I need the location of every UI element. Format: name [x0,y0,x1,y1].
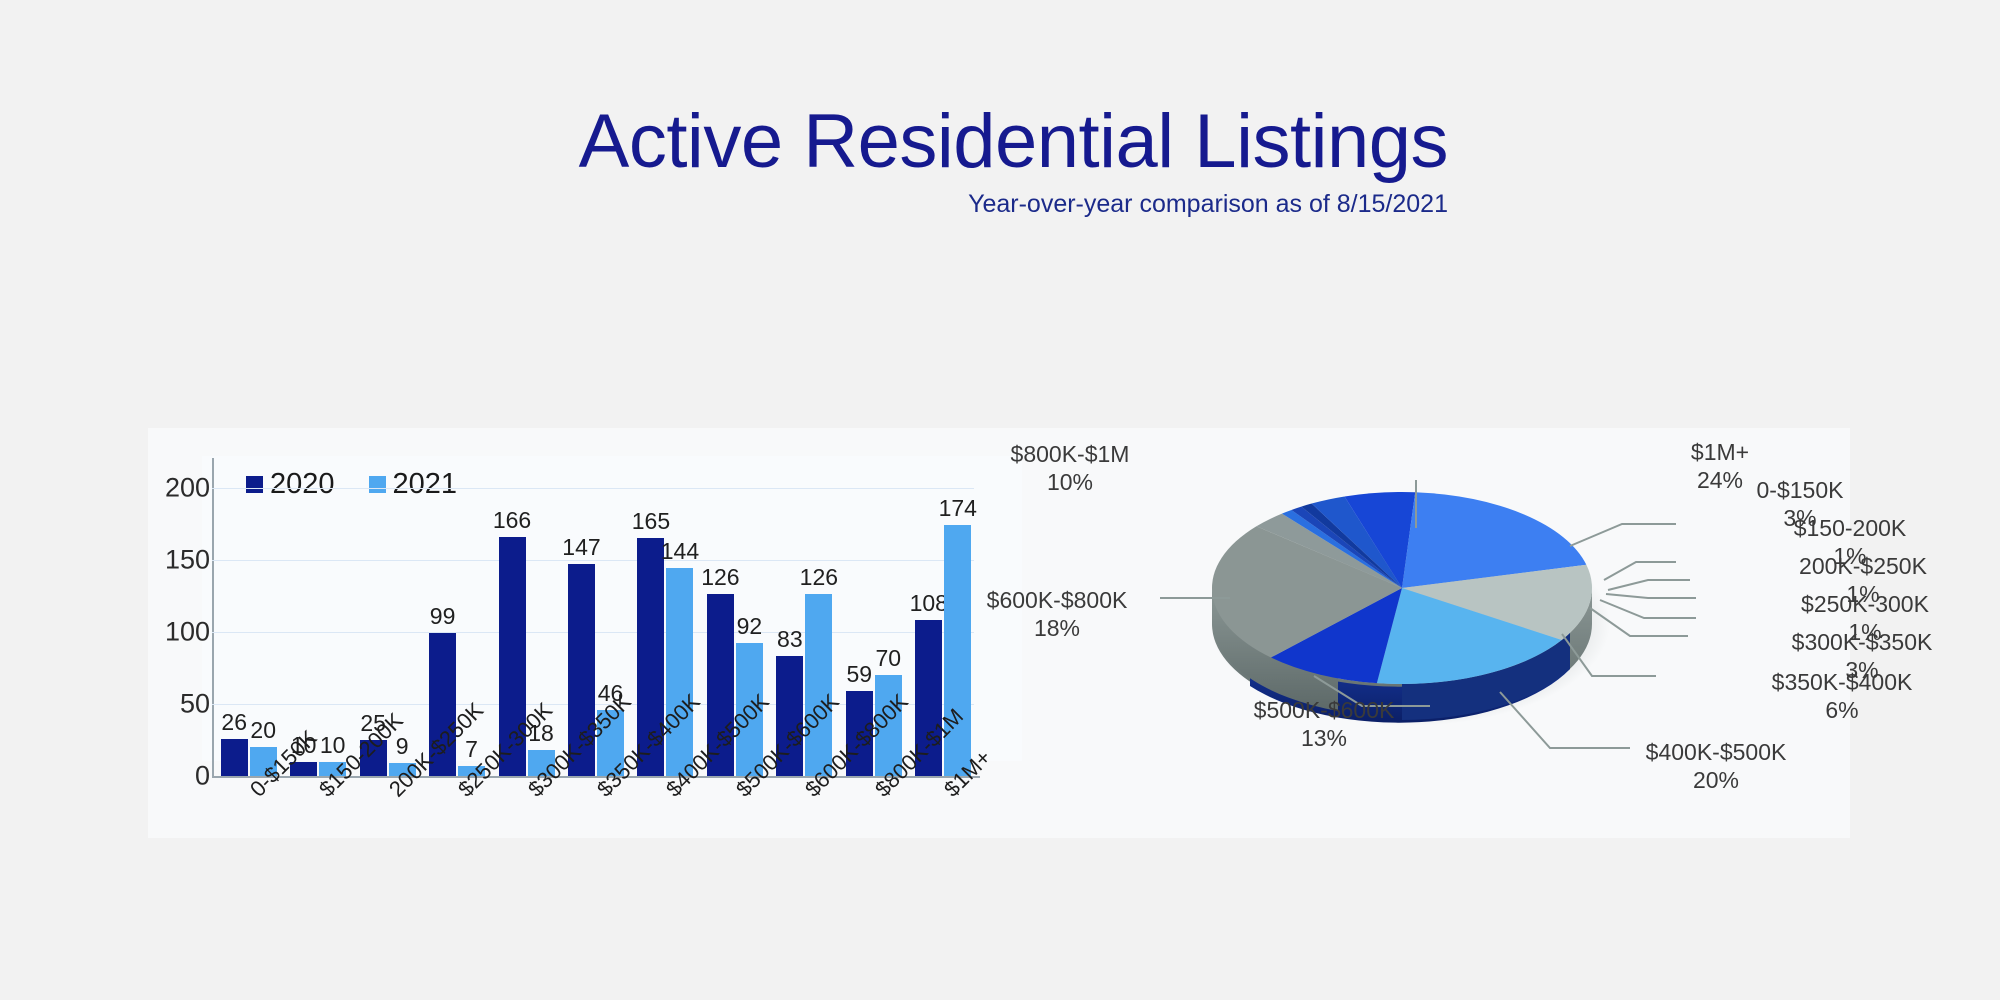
page-title: Active Residential Listings [579,96,1448,188]
bar-value-label: 108 [910,592,948,615]
bar-value-label: 7 [465,738,478,761]
bar-value-label: 147 [562,536,600,559]
bar-value-label: 83 [777,628,803,651]
pie-label-500k-600k: $500K-$600K 13% [1224,696,1424,752]
pie-slices [1212,492,1592,684]
bar-2020[interactable]: 26 [221,739,248,776]
bar-group: 2620 [214,466,283,776]
bar-value-label: 26 [221,711,247,734]
y-axis-tick: 100 [150,616,210,647]
y-axis-tick: 150 [150,544,210,575]
bar-chart: 2020 2021 050100150200 26201010259997166… [150,428,1070,840]
pie-chart: $800K-$1M 10% $1M+ 24% 0-$150K 3% $150-2… [1100,428,1860,840]
y-axis-tick: 50 [150,688,210,719]
pie-label-400k-500k: $400K-$500K 20% [1616,738,1816,794]
bar-2021[interactable]: 126 [805,594,832,776]
y-axis-tick: 0 [150,761,210,792]
pie-label-350k-400k: $350K-$400K 6% [1742,668,1942,724]
bar-value-label: 20 [250,719,276,742]
bar-value-label: 92 [737,615,763,638]
bar-value-label: 126 [800,566,838,589]
bar-value-label: 165 [632,510,670,533]
bar-value-label: 9 [396,735,409,758]
bar-value-label: 166 [493,509,531,532]
pie-label-800k-1m: $800K-$1M 10% [960,440,1180,496]
pie-label-600k-800k: $600K-$800K 18% [952,586,1162,642]
bar-group: 1010 [283,466,352,776]
bar-2021[interactable]: 144 [666,568,693,776]
slide-canvas: Active Residential Listings Year-over-ye… [0,0,2000,1000]
x-axis-labels: 0-$150K$150-200K200K-$250K$250K-300K$300… [214,784,978,904]
y-axis: 050100150200 [150,466,210,766]
y-axis-tick: 200 [150,472,210,503]
bar-value-label: 10 [320,734,346,757]
bar-value-label: 126 [701,566,739,589]
bar-value-label: 59 [847,663,873,686]
page-subtitle: Year-over-year comparison as of 8/15/202… [968,190,1448,219]
bar-value-label: 99 [430,605,456,628]
bar-value-label: 144 [661,540,699,563]
bar-value-label: 70 [876,647,902,670]
bar-value-label: 174 [939,497,977,520]
